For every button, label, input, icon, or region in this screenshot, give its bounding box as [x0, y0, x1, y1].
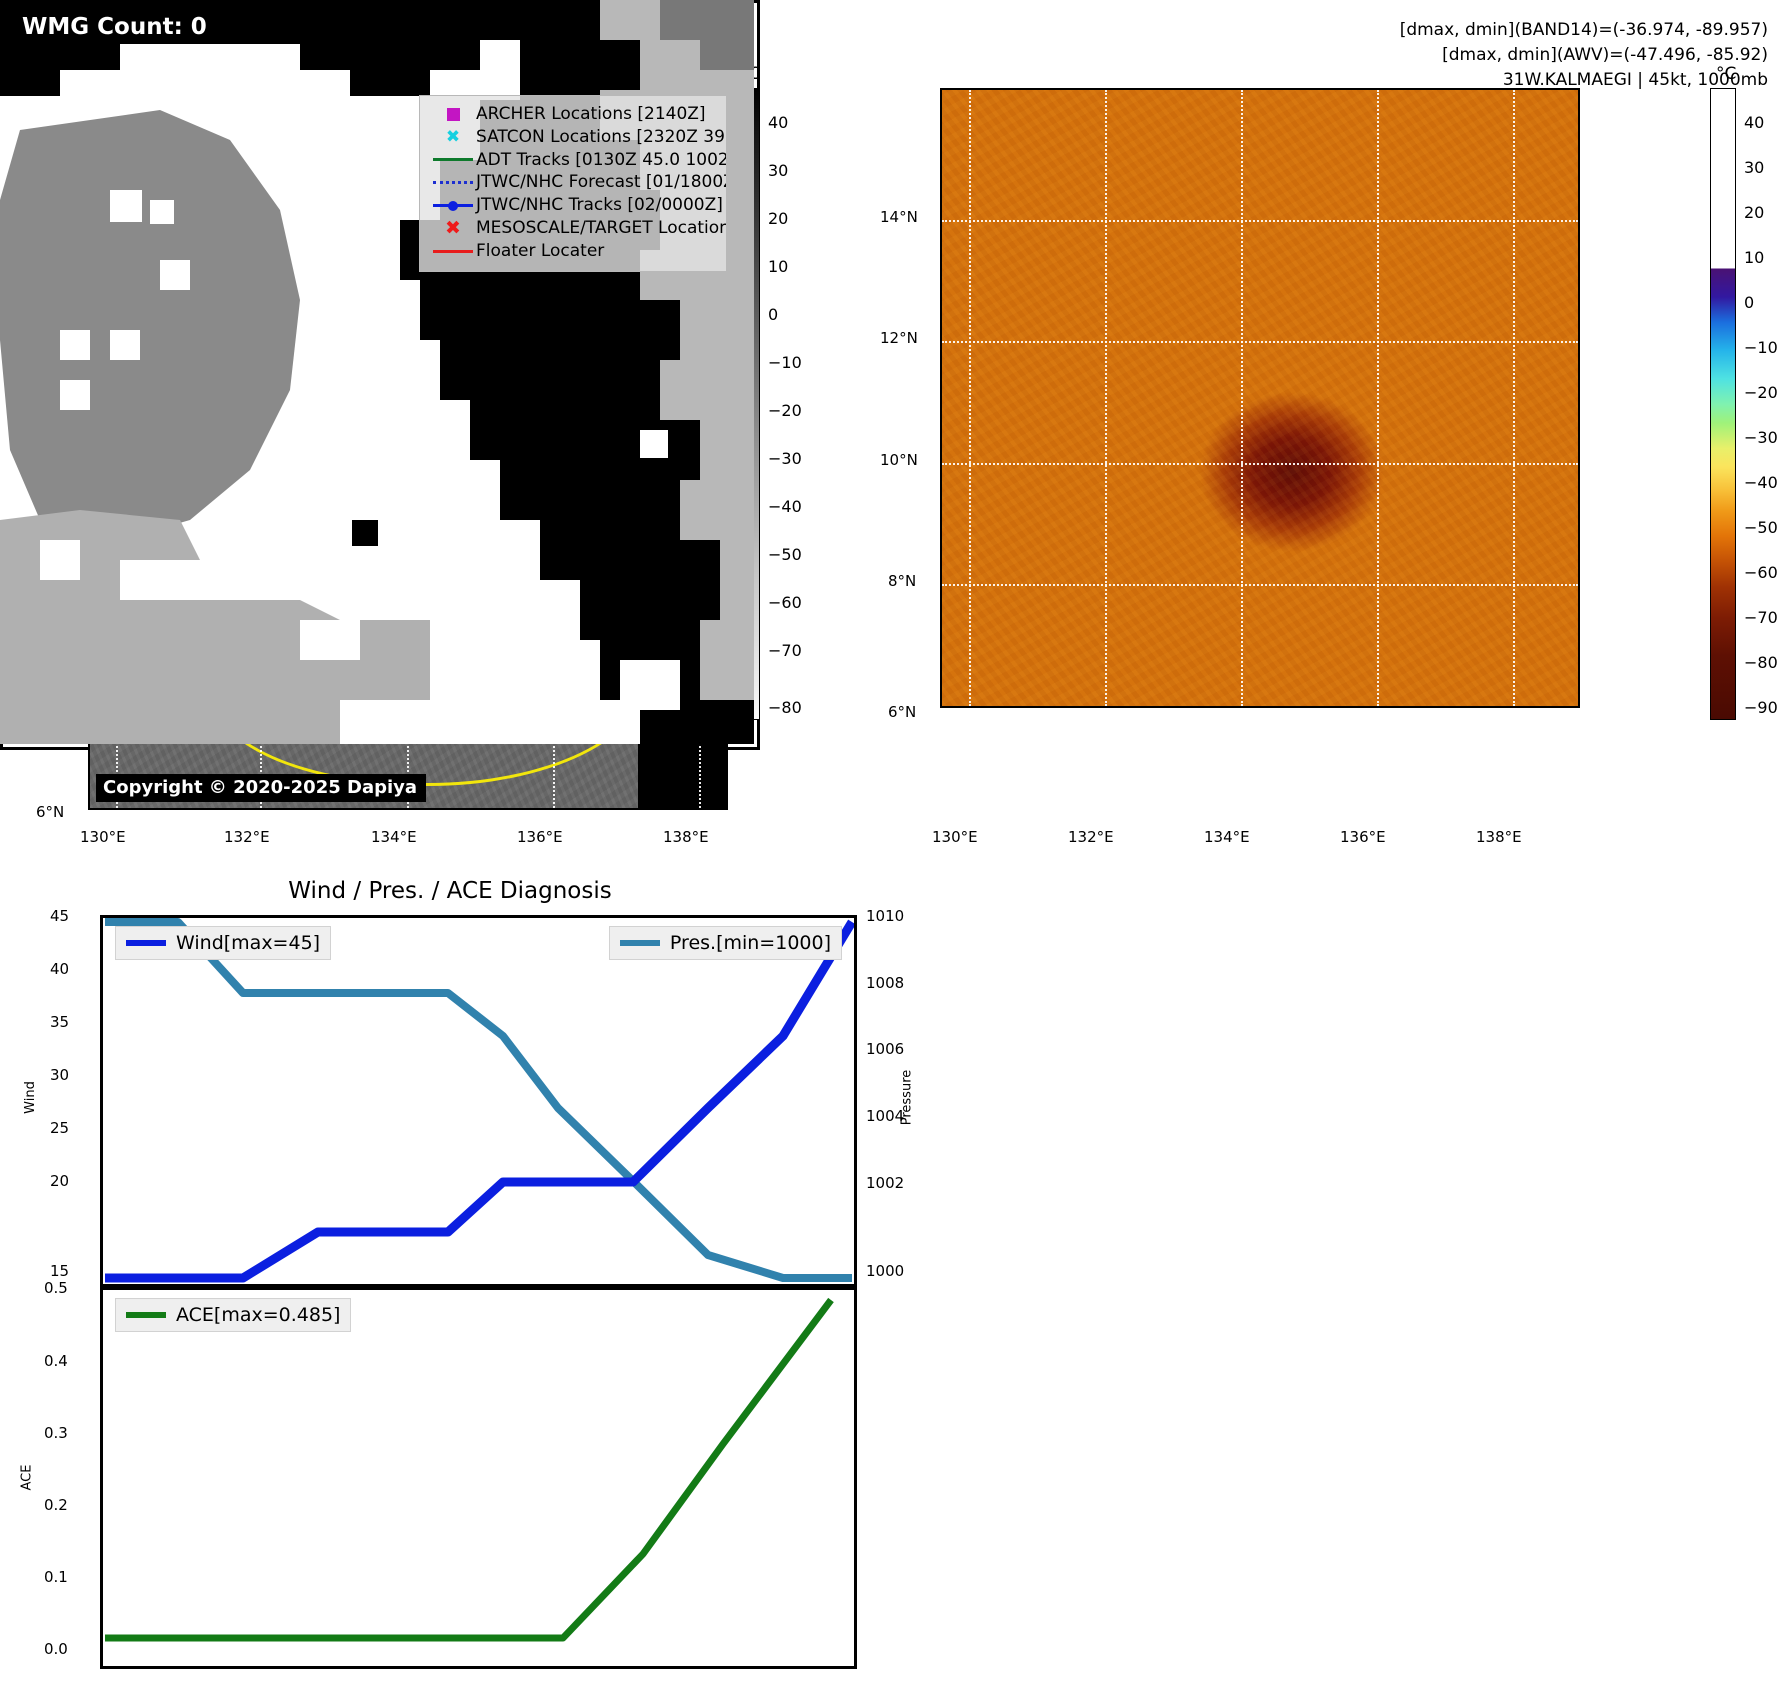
ir-cbar-tick-m50: −50 [768, 545, 802, 564]
pres-ytick-1000: 1000 [866, 1262, 904, 1280]
wmg-white-patch-5 [640, 430, 668, 458]
ir-xtick-138e: 138°E [663, 828, 709, 846]
awv-ytick-8n: 8°N [888, 572, 916, 590]
ace-ytick-00: 0.0 [44, 1640, 68, 1658]
awv-cbar-tick-0: 0 [1744, 293, 1754, 312]
ir-cbar-tick-m30: −30 [768, 449, 802, 468]
awv-cbar-tick-10: 10 [1744, 248, 1764, 267]
wmg-white-patch-3 [300, 620, 360, 660]
awv-ytick-14n: 14°N [880, 208, 918, 226]
awv-cbar-tick-m30: −30 [1744, 428, 1778, 447]
wmg-white-hole-6 [150, 200, 174, 224]
wmg-white-hole-2 [160, 260, 190, 290]
ir-cbar-tick-m20: −20 [768, 401, 802, 420]
wind-ytick-30: 30 [50, 1066, 69, 1084]
ir-ytick-6n: 6°N [36, 803, 64, 821]
ace-ytick-03: 0.3 [44, 1424, 68, 1442]
ir-xtick-132e: 132°E [224, 828, 270, 846]
wind-legend-swatch [126, 940, 166, 946]
legend-row-floater: Floater Locater [430, 240, 728, 263]
wind-legend[interactable]: Wind[max=45] [115, 926, 331, 960]
awv-ytick-6n: 6°N [888, 703, 916, 721]
wmg-white-patch-6 [620, 660, 680, 710]
legend-label-adt: ADT Tracks [0130Z 45.0 1002.0] [476, 149, 728, 172]
ace-series-line [105, 1300, 831, 1638]
awv-texture [942, 90, 1578, 706]
ace-plot[interactable]: ACE[max=0.485] [100, 1287, 857, 1669]
ace-legend[interactable]: ACE[max=0.485] [115, 1298, 351, 1332]
awv-map-panel[interactable] [940, 88, 1580, 708]
awv-cbar-tick-m40: −40 [1744, 473, 1778, 492]
pres-ytick-1010: 1010 [866, 907, 904, 925]
wind-ytick-25: 25 [50, 1119, 69, 1137]
awv-gridline-lon-132e [1105, 90, 1107, 706]
legend-row-jtwc-tracks: JTWC/NHC Tracks [02/0000Z] [430, 194, 728, 217]
diagnosis-chart-title: Wind / Pres. / ACE Diagnosis [0, 878, 900, 904]
legend-label-satcon: SATCON Locations [2320Z 39 1003] [476, 126, 728, 149]
legend-row-archer: ARCHER Locations [2140Z] [430, 103, 728, 126]
awv-cbar-tick-40: 40 [1744, 113, 1764, 132]
wmg-black-speck-2 [352, 520, 378, 546]
ace-legend-swatch [126, 1312, 166, 1318]
awv-xtick-134e: 134°E [1204, 828, 1250, 846]
ir-cbar-tick-m70: −70 [768, 641, 802, 660]
awv-gridline-lat-14n [942, 220, 1578, 222]
legend-label-mesoscale: MESOSCALE/TARGET Location [476, 217, 728, 240]
wmg-white-patch-1 [140, 560, 200, 600]
blue-dotted-line-icon [430, 181, 476, 184]
legend-row-forecast: JTWC/NHC Forecast [01/1800Z] [430, 171, 728, 194]
pres-ytick-1008: 1008 [866, 974, 904, 992]
ir-cbar-tick-30: 30 [768, 161, 788, 180]
wind-legend-label: Wind[max=45] [176, 932, 320, 954]
awv-cbar-tick-m70: −70 [1744, 608, 1778, 627]
awv-gridline-lon-136e [1377, 90, 1379, 706]
awv-cbar-tick-m90: −90 [1744, 698, 1778, 717]
wmg-black-speck-1 [560, 280, 586, 306]
red-line-icon [430, 250, 476, 253]
ir-cbar-tick-20: 20 [768, 209, 788, 228]
green-line-icon [430, 158, 476, 161]
wind-pressure-plot[interactable]: Wind[max=45] Pres.[min=1000] [100, 915, 857, 1287]
awv-xtick-136e: 136°E [1340, 828, 1386, 846]
ace-ytick-02: 0.2 [44, 1496, 68, 1514]
ir-cbar-tick-m80: −80 [768, 698, 802, 717]
wind-pressure-lines [103, 918, 854, 1284]
wmg-white-hole-3 [60, 330, 90, 360]
wind-axis-label: Wind [23, 1081, 38, 1114]
ir-cbar-tick-m10: −10 [768, 353, 802, 372]
ir-cbar-tick-0: 0 [768, 305, 778, 324]
ace-axis-label: ACE [19, 1465, 34, 1491]
legend-label-floater: Floater Locater [476, 240, 604, 263]
awv-cbar-tick-30: 30 [1744, 158, 1764, 177]
ace-legend-label: ACE[max=0.485] [176, 1304, 340, 1326]
pressure-legend-swatch [620, 940, 660, 946]
ir-xtick-136e: 136°E [517, 828, 563, 846]
ir-cbar-tick-10: 10 [768, 257, 788, 276]
pressure-legend[interactable]: Pres.[min=1000] [609, 926, 842, 960]
awv-cbar-tick-m20: −20 [1744, 383, 1778, 402]
pressure-legend-label: Pres.[min=1000] [670, 932, 831, 954]
legend-label-jtwc-tracks: JTWC/NHC Tracks [02/0000Z] [476, 194, 723, 217]
header-stats: [dmax, dmin](BAND14)=(-36.974, -89.957) … [1400, 18, 1768, 93]
pres-ytick-1006: 1006 [866, 1040, 904, 1058]
pres-ytick-1004: 1004 [866, 1107, 904, 1125]
ir-cbar-tick-40: 40 [768, 113, 788, 132]
legend-row-mesoscale: ✖ MESOSCALE/TARGET Location [430, 217, 728, 240]
dmax-dmin-awv: [dmax, dmin](AWV)=(-47.496, -85.92) [1400, 43, 1768, 68]
blue-line-marker-icon [430, 204, 476, 207]
awv-ytick-10n: 10°N [880, 451, 918, 469]
ir-cbar-tick-m40: −40 [768, 497, 802, 516]
wind-ytick-15: 15 [50, 1262, 69, 1280]
awv-cbar-tick-m50: −50 [1744, 518, 1778, 537]
red-x-icon: ✖ [430, 219, 476, 238]
awv-gridline-lon-138e [1513, 90, 1515, 706]
awv-colorbar-unit: °C [1716, 64, 1736, 84]
cyan-x-icon: ✖ [430, 129, 476, 146]
copyright-notice: Copyright © 2020-2025 Dapiya [96, 774, 426, 802]
awv-xtick-132e: 132°E [1068, 828, 1114, 846]
legend-label-archer: ARCHER Locations [2140Z] [476, 103, 706, 126]
wind-ytick-40: 40 [50, 960, 69, 978]
wind-series-line [105, 922, 852, 1278]
awv-cbar-tick-m60: −60 [1744, 563, 1778, 582]
awv-gridline-lat-8n [942, 584, 1578, 586]
awv-cbar-tick-20: 20 [1744, 203, 1764, 222]
wmg-white-hole-4 [110, 330, 140, 360]
awv-gridline-lon-130e [969, 90, 971, 706]
legend-row-adt: ADT Tracks [0130Z 45.0 1002.0] [430, 149, 728, 172]
awv-xtick-138e: 138°E [1476, 828, 1522, 846]
ir-cbar-tick-m60: −60 [768, 593, 802, 612]
ace-series-line-wrap [103, 1290, 854, 1666]
wind-ytick-35: 35 [50, 1013, 69, 1031]
wmg-white-patch-4 [340, 700, 400, 744]
dmax-dmin-band14: [dmax, dmin](BAND14)=(-36.974, -89.957) [1400, 18, 1768, 43]
wmg-white-hole-1 [110, 190, 142, 222]
awv-xtick-130e: 130°E [932, 828, 978, 846]
ace-ytick-01: 0.1 [44, 1568, 68, 1586]
awv-colorbar [1710, 88, 1736, 720]
wind-ytick-45: 45 [50, 907, 69, 925]
legend-label-forecast: JTWC/NHC Forecast [01/1800Z] [476, 171, 728, 194]
magenta-square-icon [430, 108, 476, 121]
map-legend: ARCHER Locations [2140Z] ✖ SATCON Locati… [419, 95, 728, 272]
awv-gridline-lat-12n [942, 341, 1578, 343]
wmg-white-patch-2 [40, 540, 80, 580]
ir-xtick-130e: 130°E [80, 828, 126, 846]
ace-ytick-05: 0.5 [44, 1279, 68, 1297]
pres-ytick-1002: 1002 [866, 1174, 904, 1192]
wmg-white-hole-5 [60, 380, 90, 410]
ir-xtick-134e: 134°E [371, 828, 417, 846]
awv-cbar-tick-m80: −80 [1744, 653, 1778, 672]
awv-gridline-lon-134e [1241, 90, 1243, 706]
wmg-count-label: WMG Count: 0 [22, 14, 207, 40]
awv-cbar-tick-m10: −10 [1744, 338, 1778, 357]
ace-ytick-04: 0.4 [44, 1352, 68, 1370]
wind-ytick-20: 20 [50, 1172, 69, 1190]
pressure-series-line [105, 922, 852, 1278]
awv-gridline-lat-10n [942, 463, 1578, 465]
awv-ytick-12n: 12°N [880, 329, 918, 347]
legend-row-satcon: ✖ SATCON Locations [2320Z 39 1003] [430, 126, 728, 149]
